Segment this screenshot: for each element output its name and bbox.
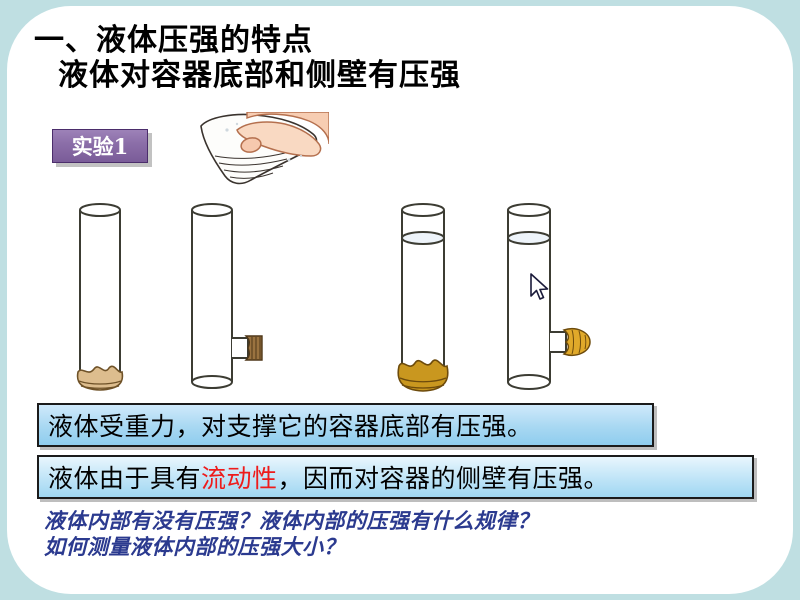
title-line-1: 一、液体压强的特点 bbox=[34, 24, 774, 59]
question-line-1: 液体内部有没有压强？液体内部的压强有什么规律？ bbox=[44, 508, 774, 534]
statement-2-text-before: 液体由于具有 bbox=[48, 459, 201, 495]
presentation-slide: 一、液体压强的特点 液体对容器底部和侧壁有压强 实验1 bbox=[0, 0, 800, 600]
hand-squeezing-cloth-illustration bbox=[193, 112, 329, 190]
tube-4-filled-side-membrane bbox=[500, 196, 610, 396]
statement-bottom-pressure: 液体受重力，对支撑它的容器底部有压强。 bbox=[37, 403, 654, 447]
tube-1-empty-bottom-membrane bbox=[70, 196, 130, 396]
followup-questions: 液体内部有没有压强？液体内部的压强有什么规律？ 如何测量液体内部的压强大小？ bbox=[44, 508, 774, 561]
tube-3-filled-bottom-membrane bbox=[392, 196, 462, 396]
question-line-2: 如何测量液体内部的压强大小？ bbox=[44, 534, 774, 560]
tube-2-empty-side-membrane bbox=[182, 196, 292, 396]
statement-side-pressure: 液体由于具有流动性，因而对容器的侧壁有压强。 bbox=[37, 455, 754, 499]
page-title: 一、液体压强的特点 液体对容器底部和侧壁有压强 bbox=[34, 24, 774, 94]
mouse-cursor-icon bbox=[529, 273, 551, 303]
experiment-badge: 实验1 bbox=[52, 129, 148, 163]
title-line-2: 液体对容器底部和侧壁有压强 bbox=[34, 59, 774, 94]
statement-2-highlight: 流动性 bbox=[201, 459, 278, 495]
statement-2-text-after: ，因而对容器的侧壁有压强。 bbox=[278, 459, 610, 495]
statement-1-text: 液体受重力，对支撑它的容器底部有压强。 bbox=[48, 407, 533, 443]
